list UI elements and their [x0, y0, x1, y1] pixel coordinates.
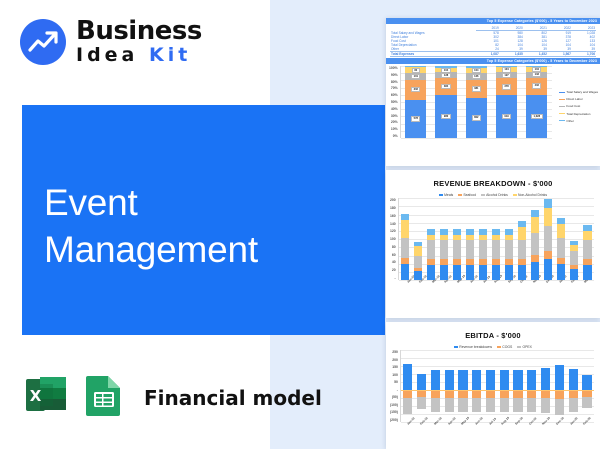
axis-tick-label: (150) — [390, 410, 398, 414]
legend-item: Other — [559, 119, 598, 123]
legend-item: OPEX — [517, 345, 532, 349]
bar-segment — [505, 265, 513, 281]
row-value: 1,087 — [476, 52, 500, 57]
brand-logo: Business Idea Kit — [20, 18, 202, 65]
microsoft-excel-icon: X — [24, 372, 70, 423]
bar-column — [479, 229, 487, 280]
expense-table-body: Total Salary and Wages5789808029191,028D… — [390, 31, 596, 57]
bar-value-label: 384 — [441, 84, 450, 89]
axis-tick-label: 80% — [389, 80, 398, 84]
axis-tick-label: (50) — [390, 395, 398, 399]
legend-item: Food Cost — [559, 104, 598, 108]
bar-segment-positive — [458, 370, 467, 390]
bar-segment — [427, 240, 435, 259]
bar-segment-positive — [417, 374, 426, 390]
bar-segment-negative — [458, 390, 467, 398]
expense-table: 2019 2020 2021 2022 2023 Total Salary an… — [386, 24, 600, 58]
bar-value-label: 919 — [502, 114, 511, 119]
axis-tick-label: 180 — [390, 206, 396, 210]
bar-value-label: 133 — [532, 72, 541, 77]
expense-percent-chart: 100%90%80%70%60%50%40%30%20%10%0% 821013… — [386, 64, 600, 138]
bar-segment — [570, 251, 578, 265]
axis-tick-label: (200) — [390, 418, 398, 422]
bar-column — [500, 350, 509, 422]
bar-segment — [518, 240, 526, 259]
bar-segment: 919 — [496, 95, 517, 137]
bar-column — [557, 218, 565, 280]
revenue-chart-y-axis: 20018016014012010080604020- — [390, 198, 398, 280]
expense-chart-legend: Total Salary and WagesDirect LaborFood C… — [559, 90, 598, 123]
bar-column — [505, 229, 513, 280]
axis-tick-label: 0% — [389, 134, 398, 138]
bar-column — [570, 241, 578, 280]
bar-segment-positive — [569, 369, 578, 390]
bar-segment-negative — [569, 390, 578, 398]
bar-segment-negative — [445, 390, 454, 398]
bar-segment-negative — [541, 390, 550, 398]
bar-segment — [479, 265, 487, 281]
bar-segment-positive — [500, 370, 509, 390]
bar-segment-positive — [582, 375, 591, 390]
bar-segment-negative — [527, 390, 536, 398]
axis-tick-label: 40% — [389, 107, 398, 111]
bar-column: 104127378919 — [496, 66, 517, 138]
bar-value-label: 381 — [472, 86, 481, 91]
bar-segment-negative — [472, 398, 481, 412]
bar-value-label: 127 — [502, 73, 511, 78]
footer-label: Financial model — [144, 386, 322, 410]
bar-segment — [479, 240, 487, 259]
axis-tick-label: 30% — [389, 114, 398, 118]
bar-column — [582, 350, 591, 422]
axis-tick-label: 20% — [389, 120, 398, 124]
bar-segment — [401, 238, 409, 258]
bar-segment — [518, 227, 526, 240]
bar-segment — [414, 246, 422, 257]
bar-column — [458, 350, 467, 422]
bar-column — [401, 214, 409, 280]
legend-item: Total Depreciation — [559, 112, 598, 116]
svg-text:X: X — [30, 387, 42, 405]
axis-tick-label: - — [390, 276, 396, 280]
bar-segment-negative — [445, 398, 454, 412]
bar-segment-negative — [431, 390, 440, 398]
chart-card-revenue-breakdown[interactable]: REVENUE BREAKDOWN - $'000 MealsSeafoodAl… — [386, 170, 600, 318]
bar-segment: 384 — [435, 78, 456, 95]
bar-segment — [557, 264, 565, 280]
bar-segment-negative — [486, 398, 495, 412]
legend-item: Total Salary and Wages — [559, 90, 598, 94]
axis-tick-label: - — [390, 388, 398, 392]
logo-line-business: Business — [76, 18, 202, 44]
legend-item: Meals — [439, 193, 453, 197]
bar-segment-positive — [513, 370, 522, 390]
ebitda-chart-x-axis: Jan-19Feb-19Mar-19Apr-19May-19Jun-19Jul-… — [386, 422, 600, 437]
bar-column: 104128384980 — [435, 66, 456, 138]
zero-line — [401, 390, 594, 391]
bar-column — [531, 210, 539, 280]
legend-item: Direct Labor — [559, 97, 598, 101]
bar-segment-negative — [403, 390, 412, 398]
bar-segment — [557, 224, 565, 238]
bar-segment — [453, 240, 461, 259]
bar-segment — [531, 210, 539, 217]
bar-value-label: 1,028 — [531, 114, 543, 119]
bar-segment — [401, 220, 409, 238]
bar-segment: 378 — [496, 78, 517, 95]
bar-segment-negative — [582, 397, 591, 408]
axis-tick-label: 20 — [390, 268, 396, 272]
bar-segment — [531, 217, 539, 233]
bar-segment-negative — [527, 398, 536, 412]
bar-segment — [414, 256, 422, 267]
bar-value-label: 578 — [411, 116, 420, 121]
expense-table-grid: 2019 2020 2021 2022 2023 Total Salary an… — [390, 26, 596, 57]
page-title: Event Management — [44, 180, 258, 274]
axis-tick-label: 200 — [390, 358, 398, 362]
bar-column — [466, 229, 474, 280]
row-label: Total Expenses — [390, 52, 476, 57]
axis-tick-label: 60 — [390, 253, 396, 257]
bar-segment — [505, 240, 513, 259]
axis-tick-label: 80 — [390, 245, 396, 249]
bar-segment: 402 — [526, 78, 547, 95]
bar-segment-negative — [513, 398, 522, 412]
bar-segment-negative — [500, 390, 509, 398]
bar-segment: 1,028 — [526, 95, 547, 138]
bar-column — [427, 229, 435, 280]
bar-column — [583, 225, 591, 280]
bar-segment-negative — [500, 398, 509, 412]
bar-segment — [401, 264, 409, 280]
bar-segment — [531, 233, 539, 256]
revenue-chart-legend: MealsSeafoodAlcohol DrinksNon-Alcohol Dr… — [386, 191, 600, 198]
bar-column — [569, 350, 578, 422]
bar-segment — [414, 271, 422, 280]
ebitda-chart-bars — [400, 350, 594, 422]
axis-tick-label: 120 — [390, 229, 396, 233]
bar-column: 104126381802 — [466, 66, 487, 138]
bar-value-label: 802 — [472, 115, 481, 120]
slide-canvas: Business Idea Kit Event Management X — [0, 0, 600, 449]
bar-segment — [440, 240, 448, 259]
legend-item: Revenue breakdowns — [454, 345, 492, 349]
logo-line-idea-kit: Idea Kit — [76, 46, 202, 65]
axis-tick-label: 90% — [389, 73, 398, 77]
bar-segment — [453, 265, 461, 281]
axis-tick-label: 60% — [389, 93, 398, 97]
bar-value-label: 302 — [411, 87, 420, 92]
chart-card-ebitda[interactable]: EBITDA - $'000 Revenue breakdownsCOGSOPE… — [386, 322, 600, 449]
bar-column — [555, 350, 564, 422]
bar-segment — [583, 231, 591, 240]
bar-value-label: 101 — [411, 74, 420, 79]
row-value: 1,452 — [524, 52, 548, 57]
bar-column — [486, 350, 495, 422]
bar-segment — [466, 240, 474, 259]
axis-tick-label: 100 — [390, 237, 396, 241]
bar-segment-negative — [513, 390, 522, 398]
logo-idea-text: Idea — [76, 44, 149, 66]
row-value: 1,567 — [548, 52, 572, 57]
bar-column — [431, 350, 440, 422]
bar-segment-positive — [403, 364, 412, 390]
bar-column — [492, 229, 500, 280]
bar-segment — [557, 238, 565, 258]
bar-column — [544, 199, 552, 280]
bar-column — [513, 350, 522, 422]
title-line-2: Management — [44, 227, 258, 274]
bar-segment — [518, 265, 526, 281]
axis-tick-label: 50% — [389, 100, 398, 104]
ebitda-chart-title: EBITDA - $'000 — [386, 322, 600, 343]
bar-segment — [492, 265, 500, 281]
bar-segment — [583, 265, 591, 281]
bar-column — [453, 229, 461, 280]
axis-tick-label: 50 — [390, 380, 398, 384]
bar-column — [403, 350, 412, 422]
bar-segment: 980 — [435, 95, 456, 138]
bar-segment — [427, 265, 435, 281]
bar-column — [417, 350, 426, 422]
bar-segment-negative — [431, 398, 440, 412]
bar-segment-positive — [541, 368, 550, 390]
growth-arrow-circle-icon — [20, 19, 66, 65]
bar-segment-positive — [486, 370, 495, 390]
bar-segment-negative — [569, 398, 578, 412]
bar-segment — [531, 262, 539, 280]
bar-value-label: 378 — [502, 84, 511, 89]
revenue-chart-bars — [398, 198, 594, 280]
bar-segment: 802 — [466, 98, 487, 138]
bar-segment-negative — [458, 398, 467, 412]
bar-segment-positive — [527, 370, 536, 390]
axis-tick-label: (100) — [390, 403, 398, 407]
axis-tick-label: 160 — [390, 214, 396, 218]
ebitda-chart-y-axis: 25020015010050-(50)(100)(150)(200) — [390, 350, 400, 422]
legend-item: Non-Alcohol Drinks — [513, 193, 547, 197]
bar-column — [440, 229, 448, 280]
bar-segment — [544, 259, 552, 280]
bar-column: 1041334021,028 — [526, 66, 547, 138]
bar-segment — [544, 208, 552, 226]
bar-column — [472, 350, 481, 422]
bar-segment: 578 — [405, 100, 426, 138]
bar-value-label: 126 — [472, 74, 481, 79]
bar-segment-negative — [555, 390, 564, 399]
bar-segment-positive — [555, 365, 564, 391]
bar-segment — [544, 199, 552, 207]
google-sheets-icon — [82, 372, 126, 423]
axis-tick-label: 200 — [390, 198, 396, 202]
legend-item: Alcohol Drinks — [481, 193, 508, 197]
bar-segment: 381 — [466, 80, 487, 99]
axis-tick-label: 250 — [390, 350, 398, 354]
revenue-chart-x-axis: Jan-19Feb-19Mar-19Apr-19May-19Jun-19Jul-… — [386, 280, 600, 297]
footer-formats: X Financial model — [24, 372, 322, 423]
bar-segment — [544, 226, 552, 252]
bar-column — [414, 242, 422, 281]
bar-segment — [466, 265, 474, 281]
axis-tick-label: 40 — [390, 260, 396, 264]
chart-card-expense-categories[interactable]: Top 5 Expense Categories ($'000) - 5 Yea… — [386, 18, 600, 166]
bar-segment-positive — [445, 370, 454, 390]
bar-column — [445, 350, 454, 422]
bar-segment-negative — [472, 390, 481, 398]
bar-segment-positive — [472, 370, 481, 390]
legend-item: COGS — [497, 345, 512, 349]
bar-segment-negative — [417, 390, 426, 397]
title-line-1: Event — [44, 180, 258, 227]
bar-segment: 302 — [405, 80, 426, 100]
axis-tick-label: 10% — [389, 127, 398, 131]
bar-segment-negative — [541, 398, 550, 413]
bar-segment — [544, 251, 552, 258]
expense-chart-bars: 8210130257810412838498010412638180210412… — [400, 66, 552, 138]
ebitda-chart-legend: Revenue breakdownsCOGSOPEX — [386, 343, 600, 350]
row-value: 1,635 — [500, 52, 524, 57]
revenue-chart-title: REVENUE BREAKDOWN - $'000 — [386, 170, 600, 191]
bar-column — [518, 221, 526, 280]
bar-segment-positive — [431, 370, 440, 390]
bar-segment — [440, 265, 448, 281]
bar-segment — [583, 240, 591, 259]
axis-tick-label: 150 — [390, 365, 398, 369]
axis-tick-label: 100% — [389, 66, 398, 70]
table-row-total: Total Expenses1,0871,6351,4521,5671,706 — [390, 52, 596, 57]
axis-tick-label: 140 — [390, 222, 396, 226]
bar-column — [527, 350, 536, 422]
bar-segment-negative — [403, 398, 412, 413]
bar-value-label: 980 — [441, 114, 450, 119]
bar-segment-negative — [417, 397, 426, 409]
legend-item: Seafood — [458, 193, 476, 197]
bar-value-label: 82 — [412, 68, 420, 73]
bar-column — [541, 350, 550, 422]
bar-segment — [492, 240, 500, 259]
row-value: 1,706 — [572, 52, 596, 57]
bar-column: 82101302578 — [405, 66, 426, 138]
bar-segment-negative — [555, 399, 564, 415]
bar-value-label: 402 — [532, 83, 541, 88]
bar-value-label: 128 — [441, 73, 450, 78]
bar-segment-negative — [486, 390, 495, 398]
axis-tick-label: 70% — [389, 86, 398, 90]
bar-segment — [570, 269, 578, 280]
axis-tick-label: 100 — [390, 373, 398, 377]
expense-chart-y-axis: 100%90%80%70%60%50%40%30%20%10%0% — [389, 66, 400, 138]
logo-kit-text: Kit — [149, 44, 191, 66]
